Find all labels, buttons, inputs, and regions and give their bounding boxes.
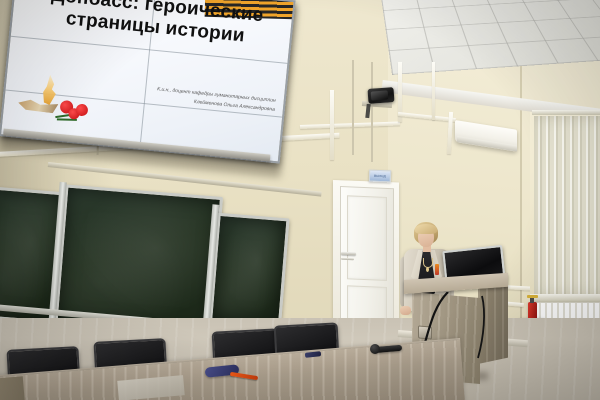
wall-conduit [432,62,435,120]
presentation-screen: Донбасс: героические страницы истории К.… [0,0,292,169]
presenter-hair-front [415,224,437,234]
fire-extinguisher-handle [527,295,538,298]
door-panel-upper [347,195,387,281]
carnation-icon [75,103,88,116]
exit-sign: ВЫХОД [369,170,391,183]
blinds-rail [532,110,600,115]
hanging-wire [352,60,354,155]
lecture-hall-photo: Донбасс: героические страницы истории К.… [0,0,600,400]
flame-icon [36,74,61,106]
wall-conduit [330,90,334,160]
door-handle[interactable] [341,252,356,256]
slide-title: Донбасс: героические страницы истории [30,0,283,52]
projector-lens-icon [371,90,389,100]
microphone-head-icon [370,344,380,354]
presenter-badge [435,264,439,275]
hanging-wire [371,62,373,162]
eternal-flame-with-carnations-icon [14,74,96,129]
window-sill [530,294,600,302]
chalkboard-panel-right [209,213,290,328]
vertical-blinds[interactable] [534,116,600,296]
desk-leg [0,376,25,400]
presenter-pendant [426,267,429,272]
door-handle-lower[interactable] [341,258,354,260]
